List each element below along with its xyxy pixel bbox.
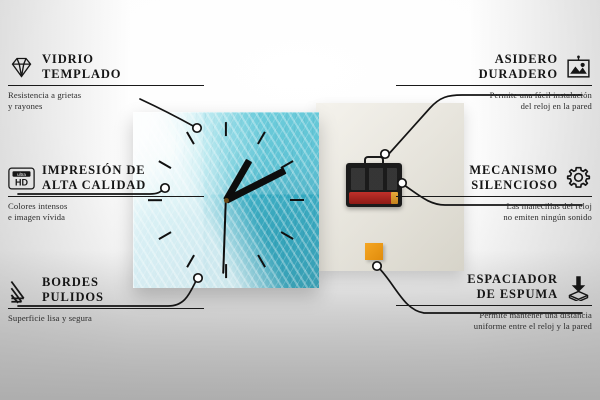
mechanism-housing-detail [351,168,397,190]
wall-hanging-frame-icon [565,54,592,81]
feature-title: BORDES PULIDOS [42,275,104,305]
feature-espaciador-espuma: ESPACIADOR DE ESPUMA Permite mantener un… [396,272,592,332]
feature-asidero-duradero: ASIDERO DURADERO Permite una fácil insta… [396,52,592,112]
ultra-hd-icon: ultra HD [8,165,35,192]
feature-description: Las manecillas del reloj no emiten ningú… [396,201,592,223]
feature-mecanismo-silencioso: MECANISMO SILENCIOSO Las manecillas del … [396,163,592,223]
feature-heading: ultra HD IMPRESIÓN DE ALTA CALIDAD [8,163,204,193]
mechanism-hook-icon [364,156,384,167]
feature-heading: ESPACIADOR DE ESPUMA [396,272,592,302]
feature-description: Colores intensos e imagen vívida [8,201,204,223]
feature-bordes-pulidos: BORDES PULIDOS Superficie lisa y segura [8,275,204,324]
feature-divider [396,85,592,86]
feature-divider [8,308,204,309]
foam-spacer-arrow-icon [565,274,592,301]
infographic-canvas: VIDRIO TEMPLADO Resistencia a grietas y … [0,0,600,400]
feature-description: Superficie lisa y segura [8,313,204,324]
diamond-icon [8,54,35,81]
feature-description: Permite mantener una distancia uniforme … [396,310,592,332]
feature-heading: MECANISMO SILENCIOSO [396,163,592,193]
feature-heading: BORDES PULIDOS [8,275,204,305]
battery [349,192,395,204]
feature-divider [396,196,592,197]
feature-heading: VIDRIO TEMPLADO [8,52,204,82]
feature-title: VIDRIO TEMPLADO [42,52,121,82]
svg-text:HD: HD [15,177,28,187]
clock-mechanism [346,163,402,207]
gear-icon [565,165,592,192]
feature-divider [8,196,204,197]
feature-divider [8,85,204,86]
foam-spacer [365,243,383,260]
svg-text:ultra: ultra [17,171,26,176]
feature-vidrio-templado: VIDRIO TEMPLADO Resistencia a grietas y … [8,52,204,112]
feature-description: Permite una fácil instalación del reloj … [396,90,592,112]
feature-title: ESPACIADOR DE ESPUMA [467,272,558,302]
feature-title: ASIDERO DURADERO [479,52,558,82]
feature-title: MECANISMO SILENCIOSO [469,163,558,193]
feature-description: Resistencia a grietas y rayones [8,90,204,112]
polished-edges-icon [8,277,35,304]
feature-heading: ASIDERO DURADERO [396,52,592,82]
feature-divider [396,305,592,306]
feature-impresion-hd: ultra HD IMPRESIÓN DE ALTA CALIDAD Color… [8,163,204,223]
feature-title: IMPRESIÓN DE ALTA CALIDAD [42,163,146,193]
